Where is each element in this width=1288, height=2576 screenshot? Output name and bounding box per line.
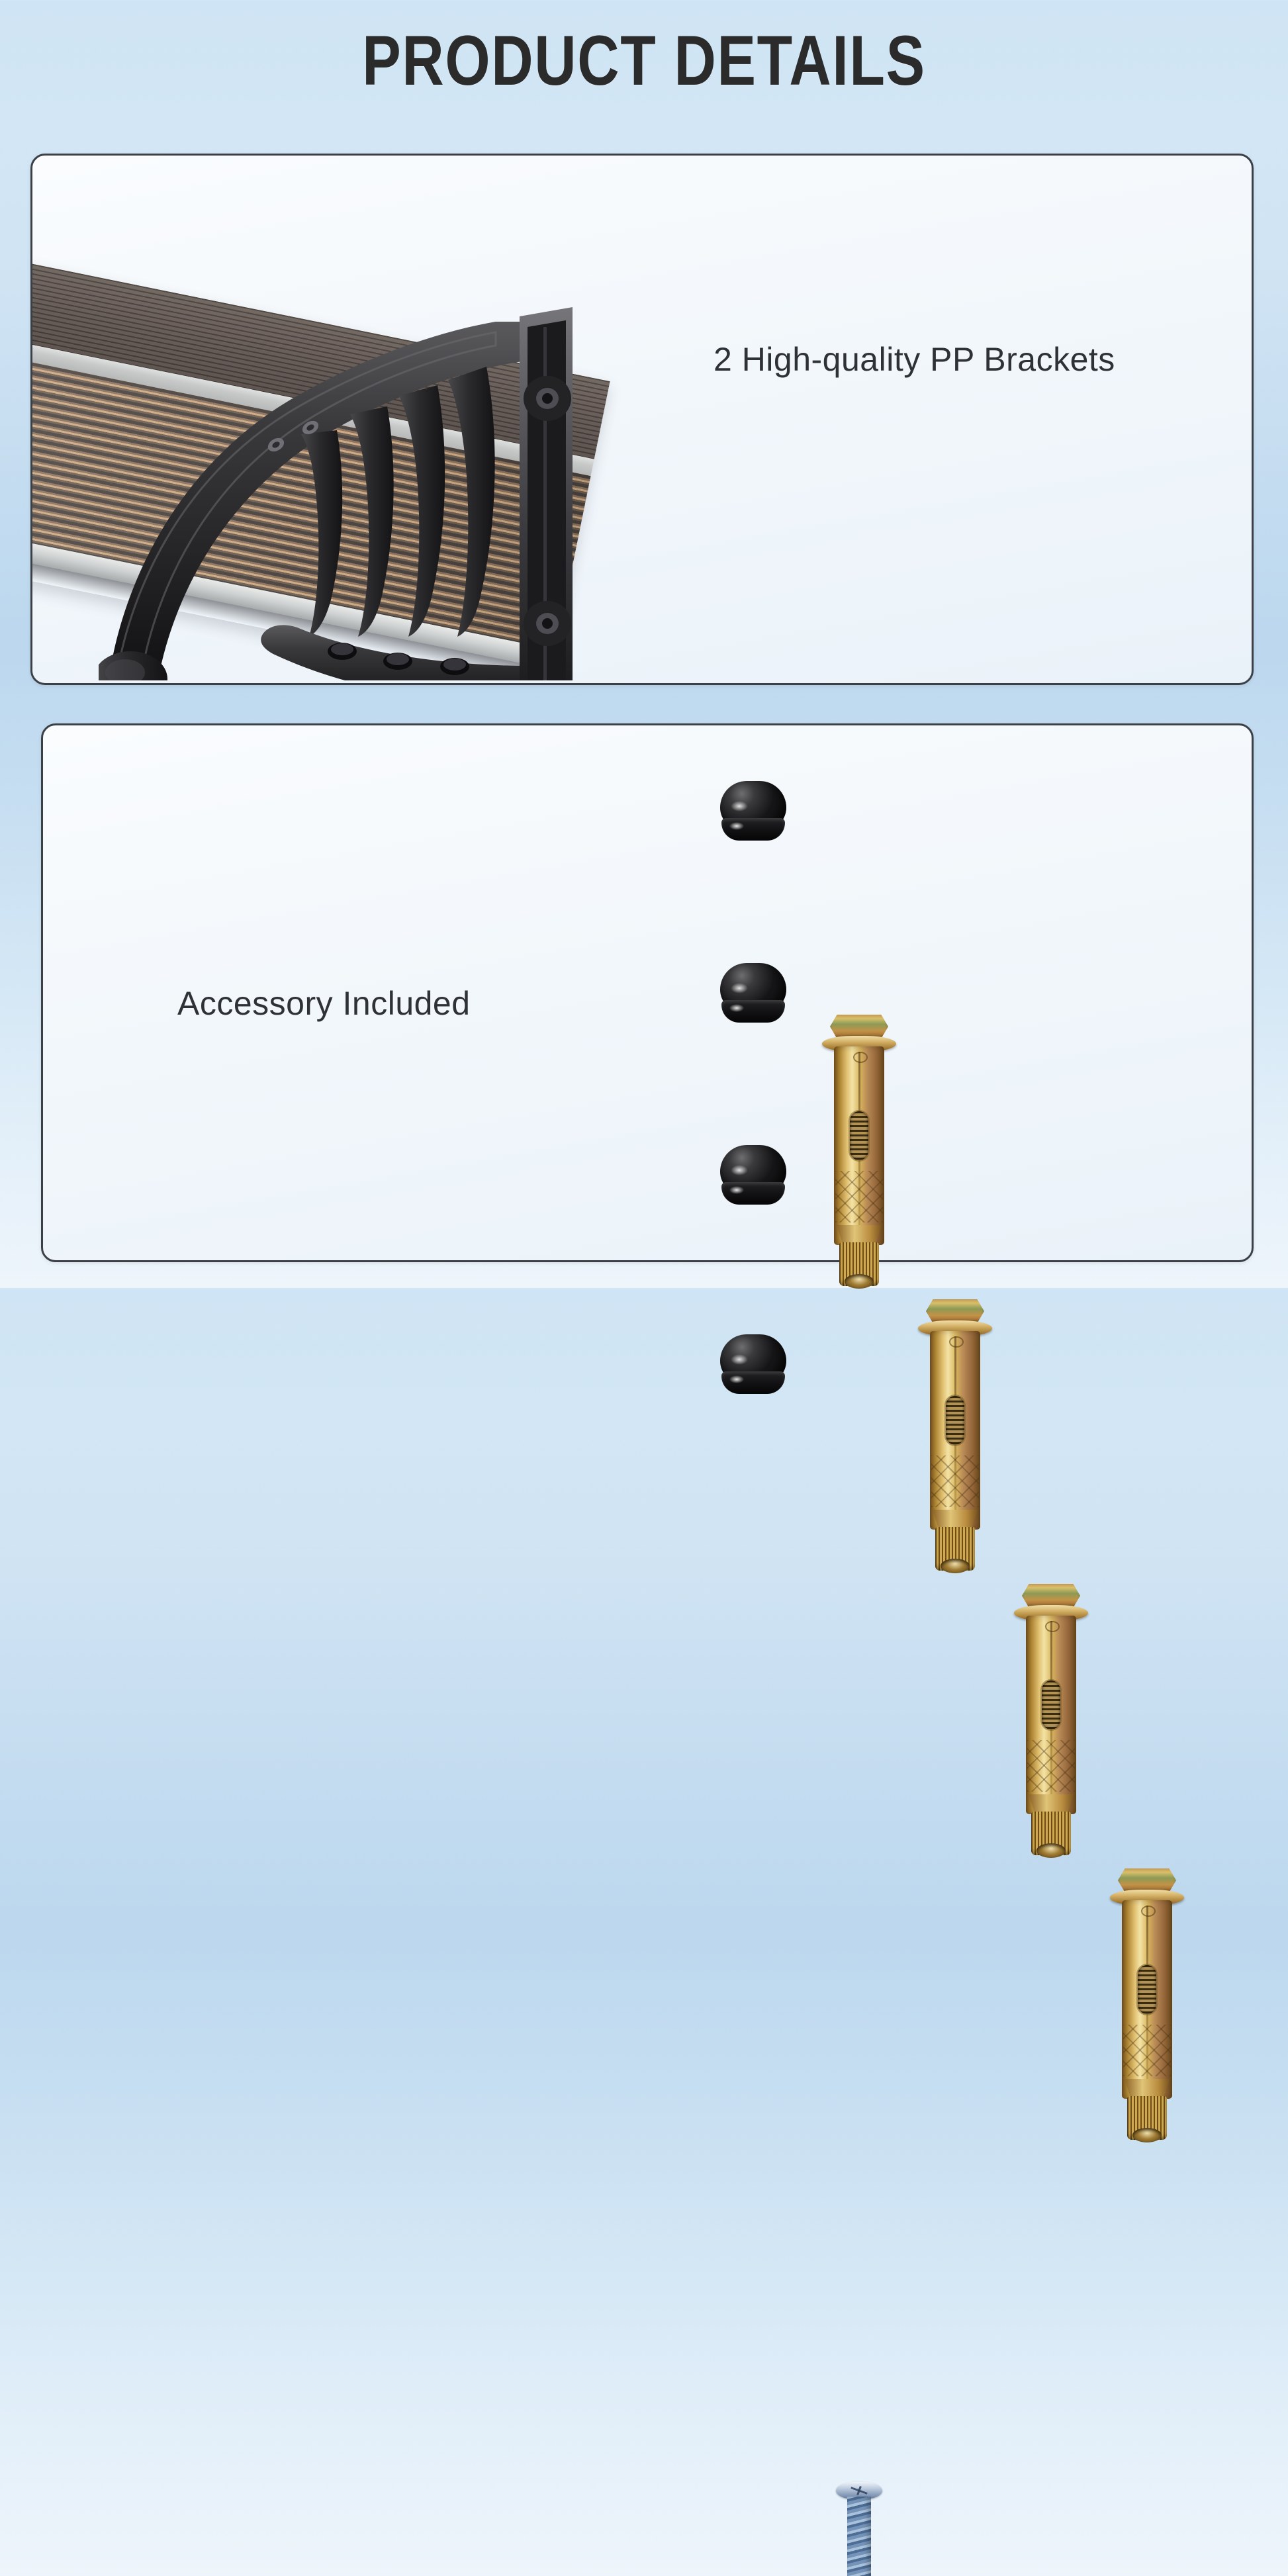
anchor-mark <box>1045 1621 1060 1632</box>
cap-highlight <box>729 1375 744 1383</box>
bracket-bottom-chord <box>261 625 529 680</box>
anchor-end-hole <box>1036 1843 1066 1858</box>
cap-highlight <box>729 1186 744 1194</box>
cap-skirt <box>721 1000 785 1023</box>
anchor-expansion-slot <box>850 1111 868 1160</box>
product-details-page: PRODUCT DETAILS <box>0 0 1288 1288</box>
anchor-end-hole <box>941 1559 970 1573</box>
anchor-knurl-pattern <box>1123 2025 1171 2076</box>
sleeve-anchor-bolt <box>1011 1584 1091 1868</box>
black-dome-cap <box>720 781 786 842</box>
anchor-knurl-pattern <box>835 1171 883 1222</box>
cap-skirt <box>721 818 785 841</box>
sleeve-anchor-bolt <box>1107 1868 1187 2153</box>
cap-skirt <box>721 1371 785 1394</box>
anchor-hex-head <box>926 1299 984 1323</box>
anchor-mark <box>853 1052 868 1063</box>
sleeve-anchor-bolt <box>819 1015 899 1299</box>
anchor-end-hole <box>1132 2128 1162 2142</box>
anchor-mark <box>949 1336 964 1348</box>
black-dome-cap <box>720 1145 786 1206</box>
anchor-hex-head <box>830 1015 888 1038</box>
canopy-bracket-photo <box>32 156 734 680</box>
black-dome-cap <box>720 963 786 1024</box>
anchor-expansion-slot <box>1042 1680 1060 1729</box>
anchor-expansion-slot <box>946 1396 964 1445</box>
black-dome-cap <box>720 1334 786 1395</box>
cap-highlight <box>729 1004 744 1012</box>
anchor-end-hole <box>845 1274 874 1289</box>
cap-skirt <box>721 1182 785 1205</box>
anchor-hex-head <box>1118 1868 1176 1892</box>
label-accessory-included: Accessory Included <box>177 984 471 1023</box>
anchor-expansion-slot <box>1138 1965 1156 2014</box>
anchor-hex-head <box>1022 1584 1080 1608</box>
anchor-mark <box>1141 1906 1156 1917</box>
page-title: PRODUCT DETAILS <box>116 25 1172 96</box>
label-pp-brackets: 2 High-quality PP Brackets <box>713 340 1115 379</box>
pp-bracket <box>99 298 628 680</box>
screw-shank <box>847 2497 871 2576</box>
cap-highlight <box>729 822 744 830</box>
sleeve-anchor-bolt <box>915 1299 995 1584</box>
bracket-wall-plate <box>520 307 573 680</box>
panel-brackets <box>30 154 1254 685</box>
anchor-knurl-pattern <box>1027 1740 1075 1792</box>
self-tapping-screw <box>836 2482 882 2576</box>
anchor-knurl-pattern <box>931 1455 979 1507</box>
